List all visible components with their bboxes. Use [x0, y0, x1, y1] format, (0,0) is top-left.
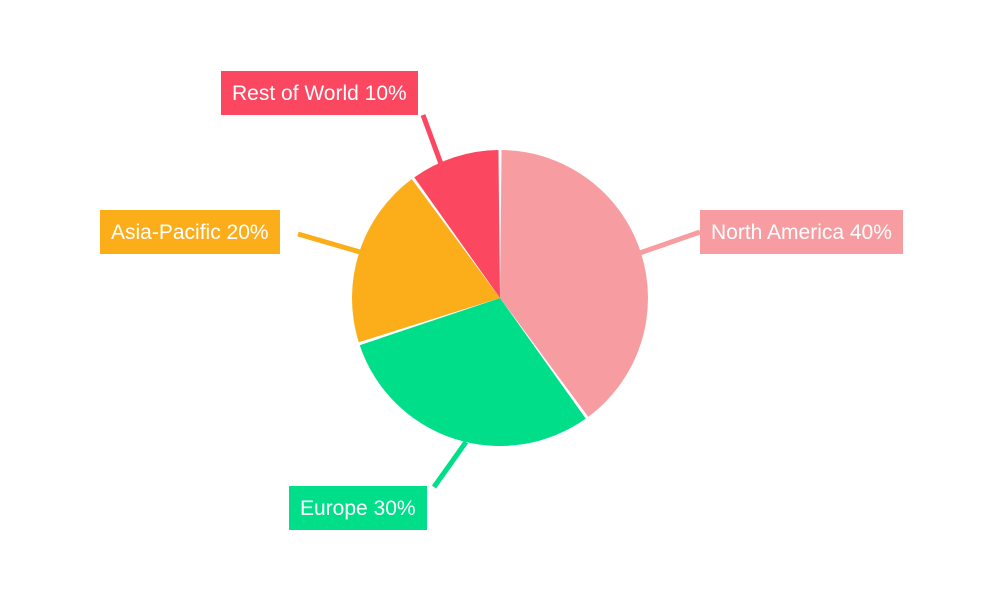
slice-label-text: Asia-Pacific 20% — [111, 222, 269, 243]
leader-line-north-america — [631, 232, 700, 256]
slice-label-text: North America 40% — [711, 222, 892, 243]
slice-label-asia-pacific: Asia-Pacific 20% — [100, 210, 280, 254]
pie-chart: North America 40% Europe 30% Asia-Pacifi… — [0, 0, 1000, 600]
pie-chart-canvas — [0, 0, 1000, 600]
slice-label-rest-of-world: Rest of World 10% — [221, 71, 418, 115]
leader-line-asia-pacific — [298, 234, 360, 252]
slice-label-text: Europe 30% — [300, 498, 416, 519]
leader-line-europe — [434, 442, 466, 487]
slice-label-north-america: North America 40% — [700, 210, 903, 254]
pie-slices — [352, 150, 648, 446]
slice-label-text: Rest of World 10% — [232, 83, 407, 104]
slice-label-europe: Europe 30% — [289, 486, 427, 530]
